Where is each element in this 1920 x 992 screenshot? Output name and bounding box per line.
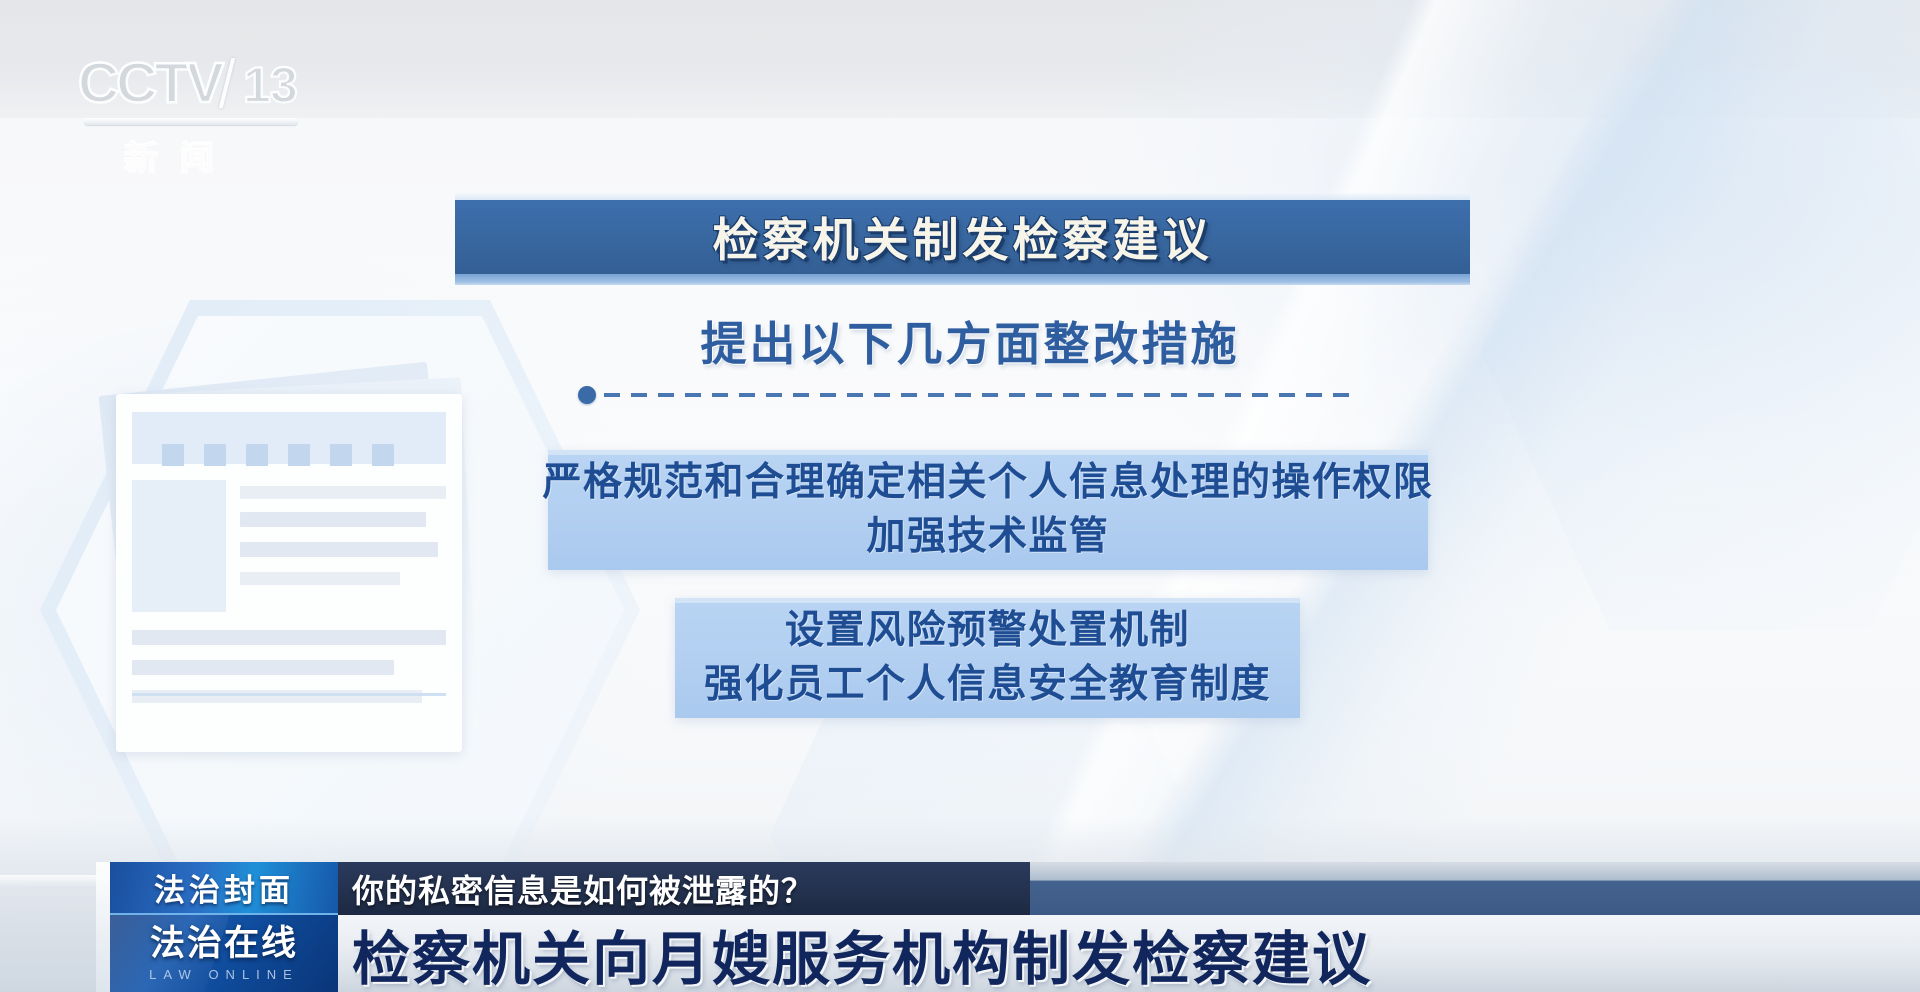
- segment-badge-label: 法治封面: [154, 865, 294, 910]
- program-logo-en: LAW ONLINE: [149, 967, 299, 982]
- topic-text: 你的私密信息是如何被泄露的？: [352, 866, 814, 912]
- slide-subtitle-row: 提出以下几方面整改措施: [580, 310, 1360, 372]
- lower-third-left-edge: [96, 862, 110, 992]
- slide-title-banner: 检察机关制发检察建议: [455, 200, 1470, 274]
- topic-strip-tail: [1030, 862, 1920, 915]
- bullet-dot-icon: [578, 386, 596, 404]
- measure-box-2-line-1: 设置风险预警处置机制: [785, 604, 1190, 658]
- measure-box-1-line-1: 严格规范和合理确定相关个人信息处理的操作权限: [543, 456, 1434, 510]
- measure-box-1: 严格规范和合理确定相关个人信息处理的操作权限 加强技术监管: [548, 450, 1428, 570]
- topic-strip: 你的私密信息是如何被泄露的？: [338, 862, 1030, 915]
- lower-third: 法治封面 法治在线 LAW ONLINE 你的私密信息是如何被泄露的？ 检察机关…: [0, 862, 1920, 992]
- measure-box-2-line-2: 强化员工个人信息安全教育制度: [704, 658, 1271, 712]
- lower-third-logo-column: 法治封面 法治在线 LAW ONLINE: [110, 862, 338, 992]
- headline-bar: 检察机关向月嫂服务机构制发检察建议: [338, 915, 1920, 992]
- slide-title-text: 检察机关制发检察建议: [713, 204, 1213, 270]
- measure-box-2: 设置风险预警处置机制 强化员工个人信息安全教育制度: [675, 598, 1300, 718]
- segment-badge: 法治封面: [110, 862, 338, 915]
- program-logo: 法治在线 LAW ONLINE: [110, 915, 338, 992]
- measure-box-1-line-2: 加强技术监管: [866, 510, 1109, 564]
- slide-content: 检察机关制发检察建议 提出以下几方面整改措施 严格规范和合理确定相关个人信息处理…: [0, 0, 1920, 860]
- slide-subtitle-text: 提出以下几方面整改措施: [701, 308, 1240, 374]
- headline-text: 检察机关向月嫂服务机构制发检察建议: [352, 912, 1372, 992]
- program-logo-cn: 法治在线: [150, 925, 298, 963]
- dashed-line: [604, 393, 1358, 397]
- dashed-divider: [578, 386, 1358, 404]
- broadcast-stage: CCTV 13 新闻: [0, 0, 1920, 992]
